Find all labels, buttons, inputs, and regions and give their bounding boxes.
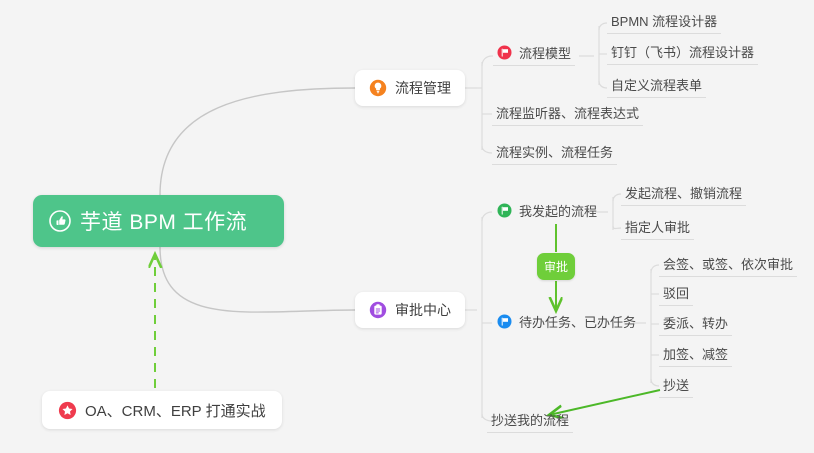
node-flow-model[interactable]: 流程模型 [493, 42, 575, 66]
root-label: 芋道 BPM 工作流 [80, 206, 247, 236]
star-icon [58, 401, 77, 420]
node-flow-model-label: 流程模型 [519, 43, 571, 62]
leaf-countersign[interactable]: 会签、或签、依次审批 [659, 253, 797, 277]
leaf-countersign-label: 会签、或签、依次审批 [663, 254, 793, 273]
edge-flowmodel-to-bpmn [599, 23, 607, 30]
clipboard-icon [369, 301, 387, 319]
annotation-pill-approve-label: 审批 [544, 258, 568, 275]
leaf-assigned-approval-label: 指定人审批 [625, 217, 690, 236]
leaf-flow-instance-label: 流程实例、流程任务 [496, 142, 613, 161]
flag-icon [497, 314, 512, 329]
leaf-cc-to-me-flows[interactable]: 抄送我的流程 [487, 409, 573, 433]
leaf-flow-instance[interactable]: 流程实例、流程任务 [492, 141, 617, 165]
leaf-flow-listener[interactable]: 流程监听器、流程表达式 [492, 102, 643, 126]
leaf-delegate-transfer-label: 委派、转办 [663, 313, 728, 332]
edge-root-to-flow-management [160, 88, 355, 195]
floating-node-integration[interactable]: OA、CRM、ERP 打通实战 [42, 391, 282, 429]
edge-approval-spine [464, 217, 482, 418]
flag-icon [497, 203, 512, 218]
leaf-bpmn-designer[interactable]: BPMN 流程设计器 [607, 10, 721, 34]
branch-node-approval-center[interactable]: 审批中心 [355, 292, 465, 328]
flag-icon [497, 45, 512, 60]
mindmap-canvas: 芋道 BPM 工作流 流程管理 流程模型 BPMN 流程设计器 钉钉（飞书 [0, 0, 814, 453]
edge-flowmgmt-spine [464, 62, 482, 150]
thumbs-up-icon [49, 210, 71, 232]
leaf-dingtalk-designer[interactable]: 钉钉（飞书）流程设计器 [607, 41, 758, 65]
branch-node-flow-management[interactable]: 流程管理 [355, 70, 465, 106]
leaf-bpmn-designer-label: BPMN 流程设计器 [611, 11, 717, 30]
branch-label-approval-center: 审批中心 [395, 300, 451, 320]
leaf-cc-to-me-flows-label: 抄送我的流程 [491, 410, 569, 429]
leaf-custom-form[interactable]: 自定义流程表单 [607, 74, 706, 98]
leaf-cc[interactable]: 抄送 [659, 374, 693, 398]
edge-flowmgmt-to-flowmodel [482, 56, 493, 66]
node-my-started-flows[interactable]: 我发起的流程 [493, 200, 601, 224]
leaf-custom-form-label: 自定义流程表单 [611, 75, 702, 94]
root-node[interactable]: 芋道 BPM 工作流 [33, 195, 284, 247]
leaf-start-cancel-flow[interactable]: 发起流程、撤销流程 [621, 182, 746, 206]
edge-tododone-to-cc [651, 379, 659, 386]
lightbulb-icon [369, 79, 387, 97]
edge-root-to-approval-center [160, 247, 355, 312]
edge-mystarted-to-assign [613, 226, 621, 229]
floating-node-integration-label: OA、CRM、ERP 打通实战 [85, 400, 266, 421]
leaf-assigned-approval[interactable]: 指定人审批 [621, 216, 694, 240]
leaf-dingtalk-designer-label: 钉钉（飞书）流程设计器 [611, 42, 754, 61]
leaf-cc-label: 抄送 [663, 375, 689, 394]
node-todo-done-tasks-label: 待办任务、已办任务 [519, 312, 636, 331]
branch-label-flow-management: 流程管理 [395, 78, 451, 98]
edge-flowmgmt-to-instance [482, 146, 492, 153]
edge-flowmodel-to-customform [599, 81, 607, 88]
leaf-add-remove-sign[interactable]: 加签、减签 [659, 343, 732, 367]
node-todo-done-tasks[interactable]: 待办任务、已办任务 [493, 311, 640, 335]
leaf-reject[interactable]: 驳回 [659, 282, 693, 306]
leaf-start-cancel-flow-label: 发起流程、撤销流程 [625, 183, 742, 202]
edge-approval-to-mystarted [482, 212, 492, 221]
edge-mystarted-to-start [613, 194, 621, 201]
edge-flowmodel-spine [579, 26, 599, 85]
node-my-started-flows-label: 我发起的流程 [519, 201, 597, 220]
leaf-flow-listener-label: 流程监听器、流程表达式 [496, 103, 639, 122]
annotation-pill-approve: 审批 [537, 253, 575, 280]
leaf-add-remove-sign-label: 加签、减签 [663, 344, 728, 363]
leaf-delegate-transfer[interactable]: 委派、转办 [659, 312, 732, 336]
edge-tododone-to-countersign [651, 265, 659, 273]
leaf-reject-label: 驳回 [663, 283, 689, 302]
